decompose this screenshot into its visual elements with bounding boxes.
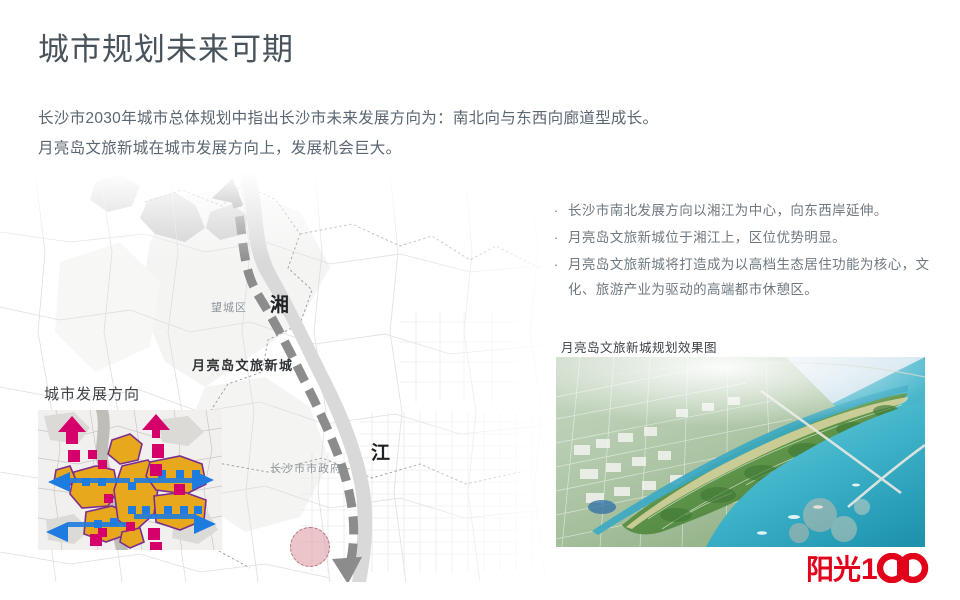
page-title: 城市规划未来可期 [38,28,294,72]
brand-logo-chinese: 阳光 [806,555,860,585]
bullet-marker-icon: · [552,252,568,277]
map-river-char-xiang: 湘 [270,290,291,317]
bullet-marker-icon: · [552,225,568,250]
list-item-text: 月亮岛文旅新城将打造成为以高档生态居住功能为核心，文化、旅游产业为驱动的高端都市… [568,252,952,302]
growth-direction-inset-map [38,410,222,550]
brand-logo: 阳光 1 [806,553,931,587]
list-item: · 月亮岛文旅新城位于湘江上，区位优势明显。 [552,225,952,250]
intro-line-1: 长沙市2030年城市总体规划中指出长沙市未来发展方向为：南北向与东西向廊道型成长… [38,104,818,134]
brand-logo-one: 1 [861,555,877,585]
list-item-text: 月亮岛文旅新城位于湘江上，区位优势明显。 [568,225,952,250]
rendering-image [556,357,925,547]
list-item: · 长沙市南北发展方向以湘江为中心，向东西岸延伸。 [552,198,952,223]
list-item: · 月亮岛文旅新城将打造成为以高档生态居住功能为核心，文化、旅游产业为驱动的高端… [552,252,952,302]
bullet-marker-icon: · [552,198,568,223]
site-marker-moonisland[interactable] [290,527,330,567]
map-label-wangchengqu: 望城区 [211,299,247,315]
inset-map-caption: 城市发展方向 [44,383,140,404]
growth-direction-graphic [38,410,222,550]
intro-paragraph: 长沙市2030年城市总体规划中指出长沙市未来发展方向为：南北向与东西向廊道型成长… [38,104,818,164]
aerial-rendering-graphic [556,357,925,547]
map-river-char-jiang: 江 [371,438,392,465]
intro-line-2: 月亮岛文旅新城在城市发展方向上，发展机会巨大。 [38,134,818,164]
brand-logo-double-o-icon [877,553,931,588]
map-label-moonisland: 月亮岛文旅新城 [192,355,294,374]
rendering-caption: 月亮岛文旅新城规划效果图 [561,337,717,356]
key-points-list: · 长沙市南北发展方向以湘江为中心，向东西岸延伸。 · 月亮岛文旅新城位于湘江上… [552,198,952,304]
map-label-city-government: 长沙市市政府 [270,460,342,476]
list-item-text: 长沙市南北发展方向以湘江为中心，向东西岸延伸。 [568,198,952,223]
